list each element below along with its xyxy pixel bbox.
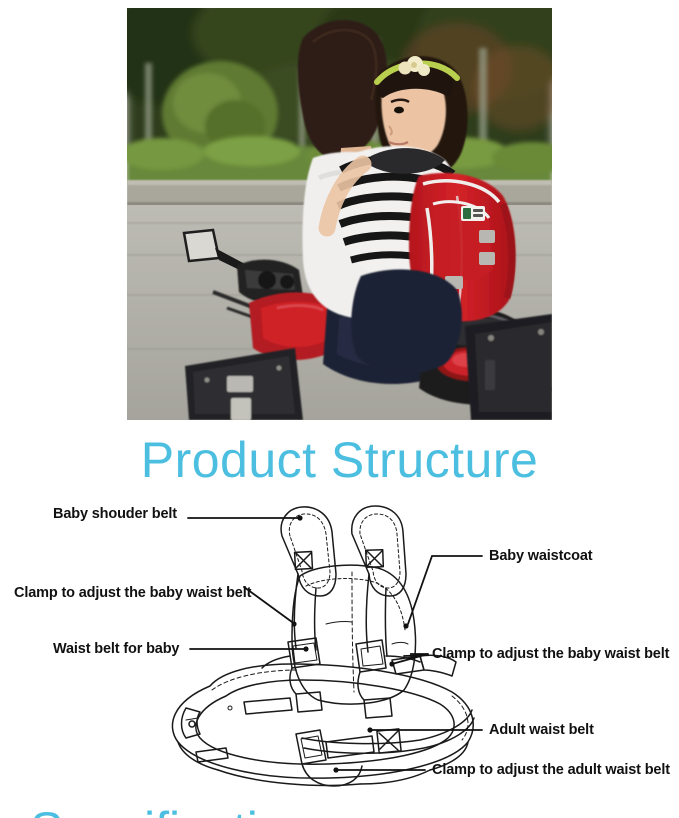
label-baby-waistcoat: Baby waistcoat [489,548,592,564]
label-adult-waist-belt: Adult waist belt [489,722,594,738]
label-baby-shoulder-belt: Baby shouder belt [53,506,177,522]
next-section-heading: Specification [0,800,679,818]
leader-baby-waistcoat [408,556,482,624]
label-clamp-baby-waist-belt-left: Clamp to adjust the baby waist belt [14,585,251,601]
product-photo [127,8,552,420]
label-clamp-adult-waist-belt: Clamp to adjust the adult waist belt [432,762,670,778]
next-section-title: Specification [0,800,679,818]
label-waist-belt-for-baby: Waist belt for baby [53,641,179,657]
label-clamp-baby-waist-belt-right: Clamp to adjust the baby waist belt [432,646,669,662]
page-title: Product Structure [0,430,679,490]
product-photo-image [127,8,552,420]
pannier-right [465,314,552,420]
